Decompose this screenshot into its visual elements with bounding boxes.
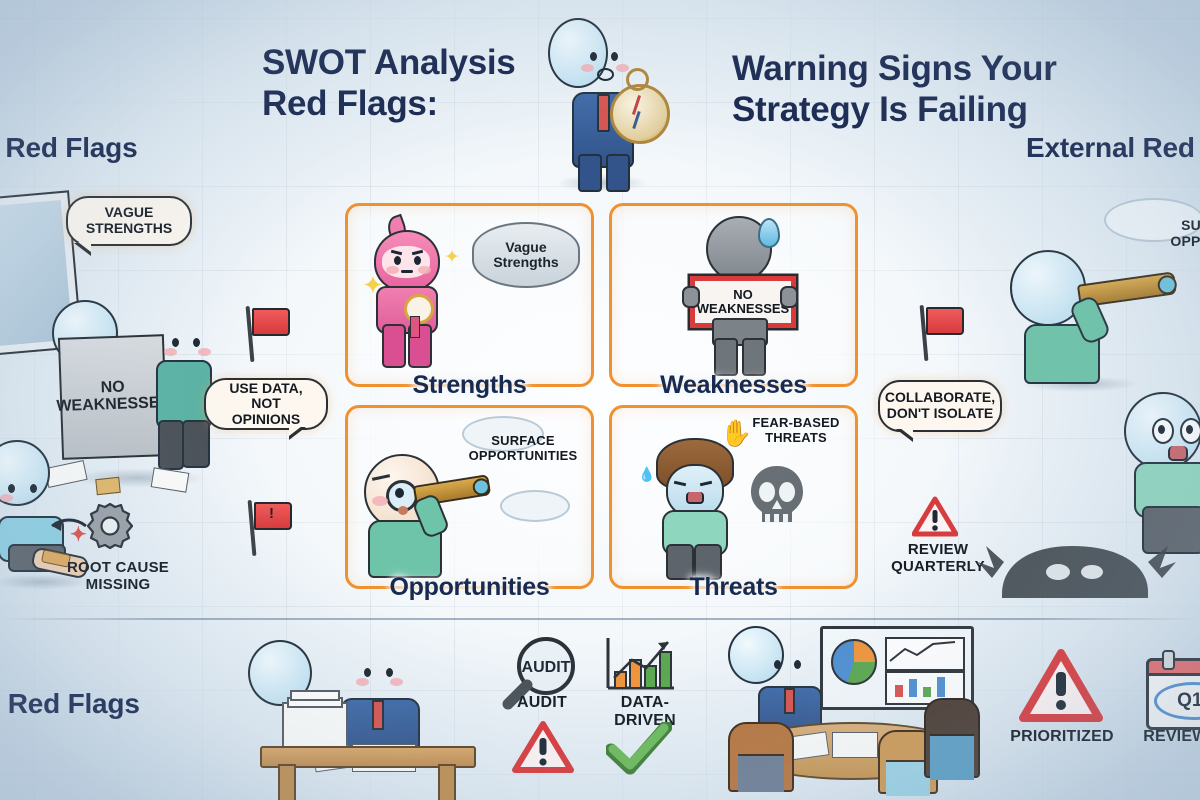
label-root-cause-missing: ROOT CAUSE MISSING <box>48 560 188 594</box>
gray-character-icon: NO WEAKNESSES <box>688 214 788 374</box>
section-heading-process: ess Red Flags <box>0 688 140 720</box>
callout-surface-opportunities: SURFACE OPPORTUNITIES <box>460 434 586 463</box>
red-flag-alert-icon: ! <box>250 500 290 556</box>
title-left-line2: Red Flags: <box>262 83 515 124</box>
cloud-icon <box>500 490 570 522</box>
callout-fear-based-threats: FEAR-BASED THREATS <box>742 416 850 445</box>
swot-label-strengths: Strengths <box>348 371 591 400</box>
callout-vague-strengths-cloud: Vague Strengths <box>472 222 580 288</box>
tie <box>597 94 610 132</box>
character-with-telescope-right <box>1010 250 1190 390</box>
attendee-avatar <box>924 698 980 778</box>
swot-grid: ✦ ✦ Vague Strengths Strengths NO WEAKNES… <box>345 203 855 588</box>
skull-shadow-icon <box>748 464 806 528</box>
attendee-avatar <box>728 722 794 792</box>
section-heading-internal: nal Red Flags <box>0 132 137 164</box>
page-title-left: SWOT Analysis Red Flags: <box>262 42 515 124</box>
proud-character-icon: ✦ ✦ <box>366 220 462 370</box>
calendar-icon: Q1- <box>1146 650 1200 724</box>
swot-quadrant-threats[interactable]: 💧 ✋ FEAR-BASED THREATS Threats <box>609 405 858 589</box>
title-right-line2: Strategy Is Failing <box>732 89 1057 130</box>
label-prioritized: PRIORITIZED <box>1006 728 1118 746</box>
swot-quadrant-opportunities[interactable]: SURFACE OPPORTUNITIES Opportunities <box>345 405 594 589</box>
warning-triangle-icon <box>512 720 574 776</box>
character-with-telescope-icon <box>362 448 492 578</box>
meeting-scene <box>728 626 974 800</box>
compass-icon <box>610 84 670 144</box>
mascot-with-compass <box>548 18 656 190</box>
swot-label-opportunities: Opportunities <box>348 573 591 602</box>
swot-quadrant-weaknesses[interactable]: NO WEAKNESSES Weaknesses <box>609 203 858 387</box>
desk-scene <box>248 640 478 790</box>
gear-icon <box>84 500 136 552</box>
swot-label-threats: Threats <box>612 573 855 602</box>
warning-triangle-icon <box>1018 648 1104 724</box>
red-flag-icon <box>922 305 962 361</box>
label-review-q: REVIEW Q <box>1128 728 1200 746</box>
callout-collaborate: COLLABORATE, DON'T ISOLATE <box>878 380 1002 432</box>
label-audit: AUDIT <box>498 694 586 712</box>
section-heading-external: External Red F <box>1026 132 1200 164</box>
callout-use-data: USE DATA, NOT OPINIONS <box>204 378 328 430</box>
paper-stack <box>282 702 348 750</box>
section-divider <box>0 618 1200 620</box>
callout-surface-opportunities-right: SU OPPO <box>1136 218 1200 249</box>
title-left-line1: SWOT Analysis <box>262 42 515 83</box>
arrow-icon <box>48 516 88 536</box>
bar-chart-icon <box>600 634 678 696</box>
title-right-line1: Warning Signs Your <box>732 48 1057 89</box>
swot-label-weaknesses: Weaknesses <box>612 371 855 400</box>
infographic-canvas: SWOT Analysis Red Flags: Warning Signs Y… <box>0 0 1200 800</box>
page-title-right: Warning Signs Your Strategy Is Failing <box>732 48 1057 130</box>
red-flag-icon <box>248 306 288 362</box>
scared-character-icon: 💧 <box>646 438 742 578</box>
svg-text:AUDIT: AUDIT <box>522 659 571 676</box>
monster-shadow <box>942 520 1182 600</box>
callout-vague-strengths: VAGUE STRENGTHS <box>66 196 192 246</box>
swot-quadrant-strengths[interactable]: ✦ ✦ Vague Strengths Strengths <box>345 203 594 387</box>
green-check-icon <box>606 722 672 776</box>
sweat-drop-icon <box>758 218 780 248</box>
